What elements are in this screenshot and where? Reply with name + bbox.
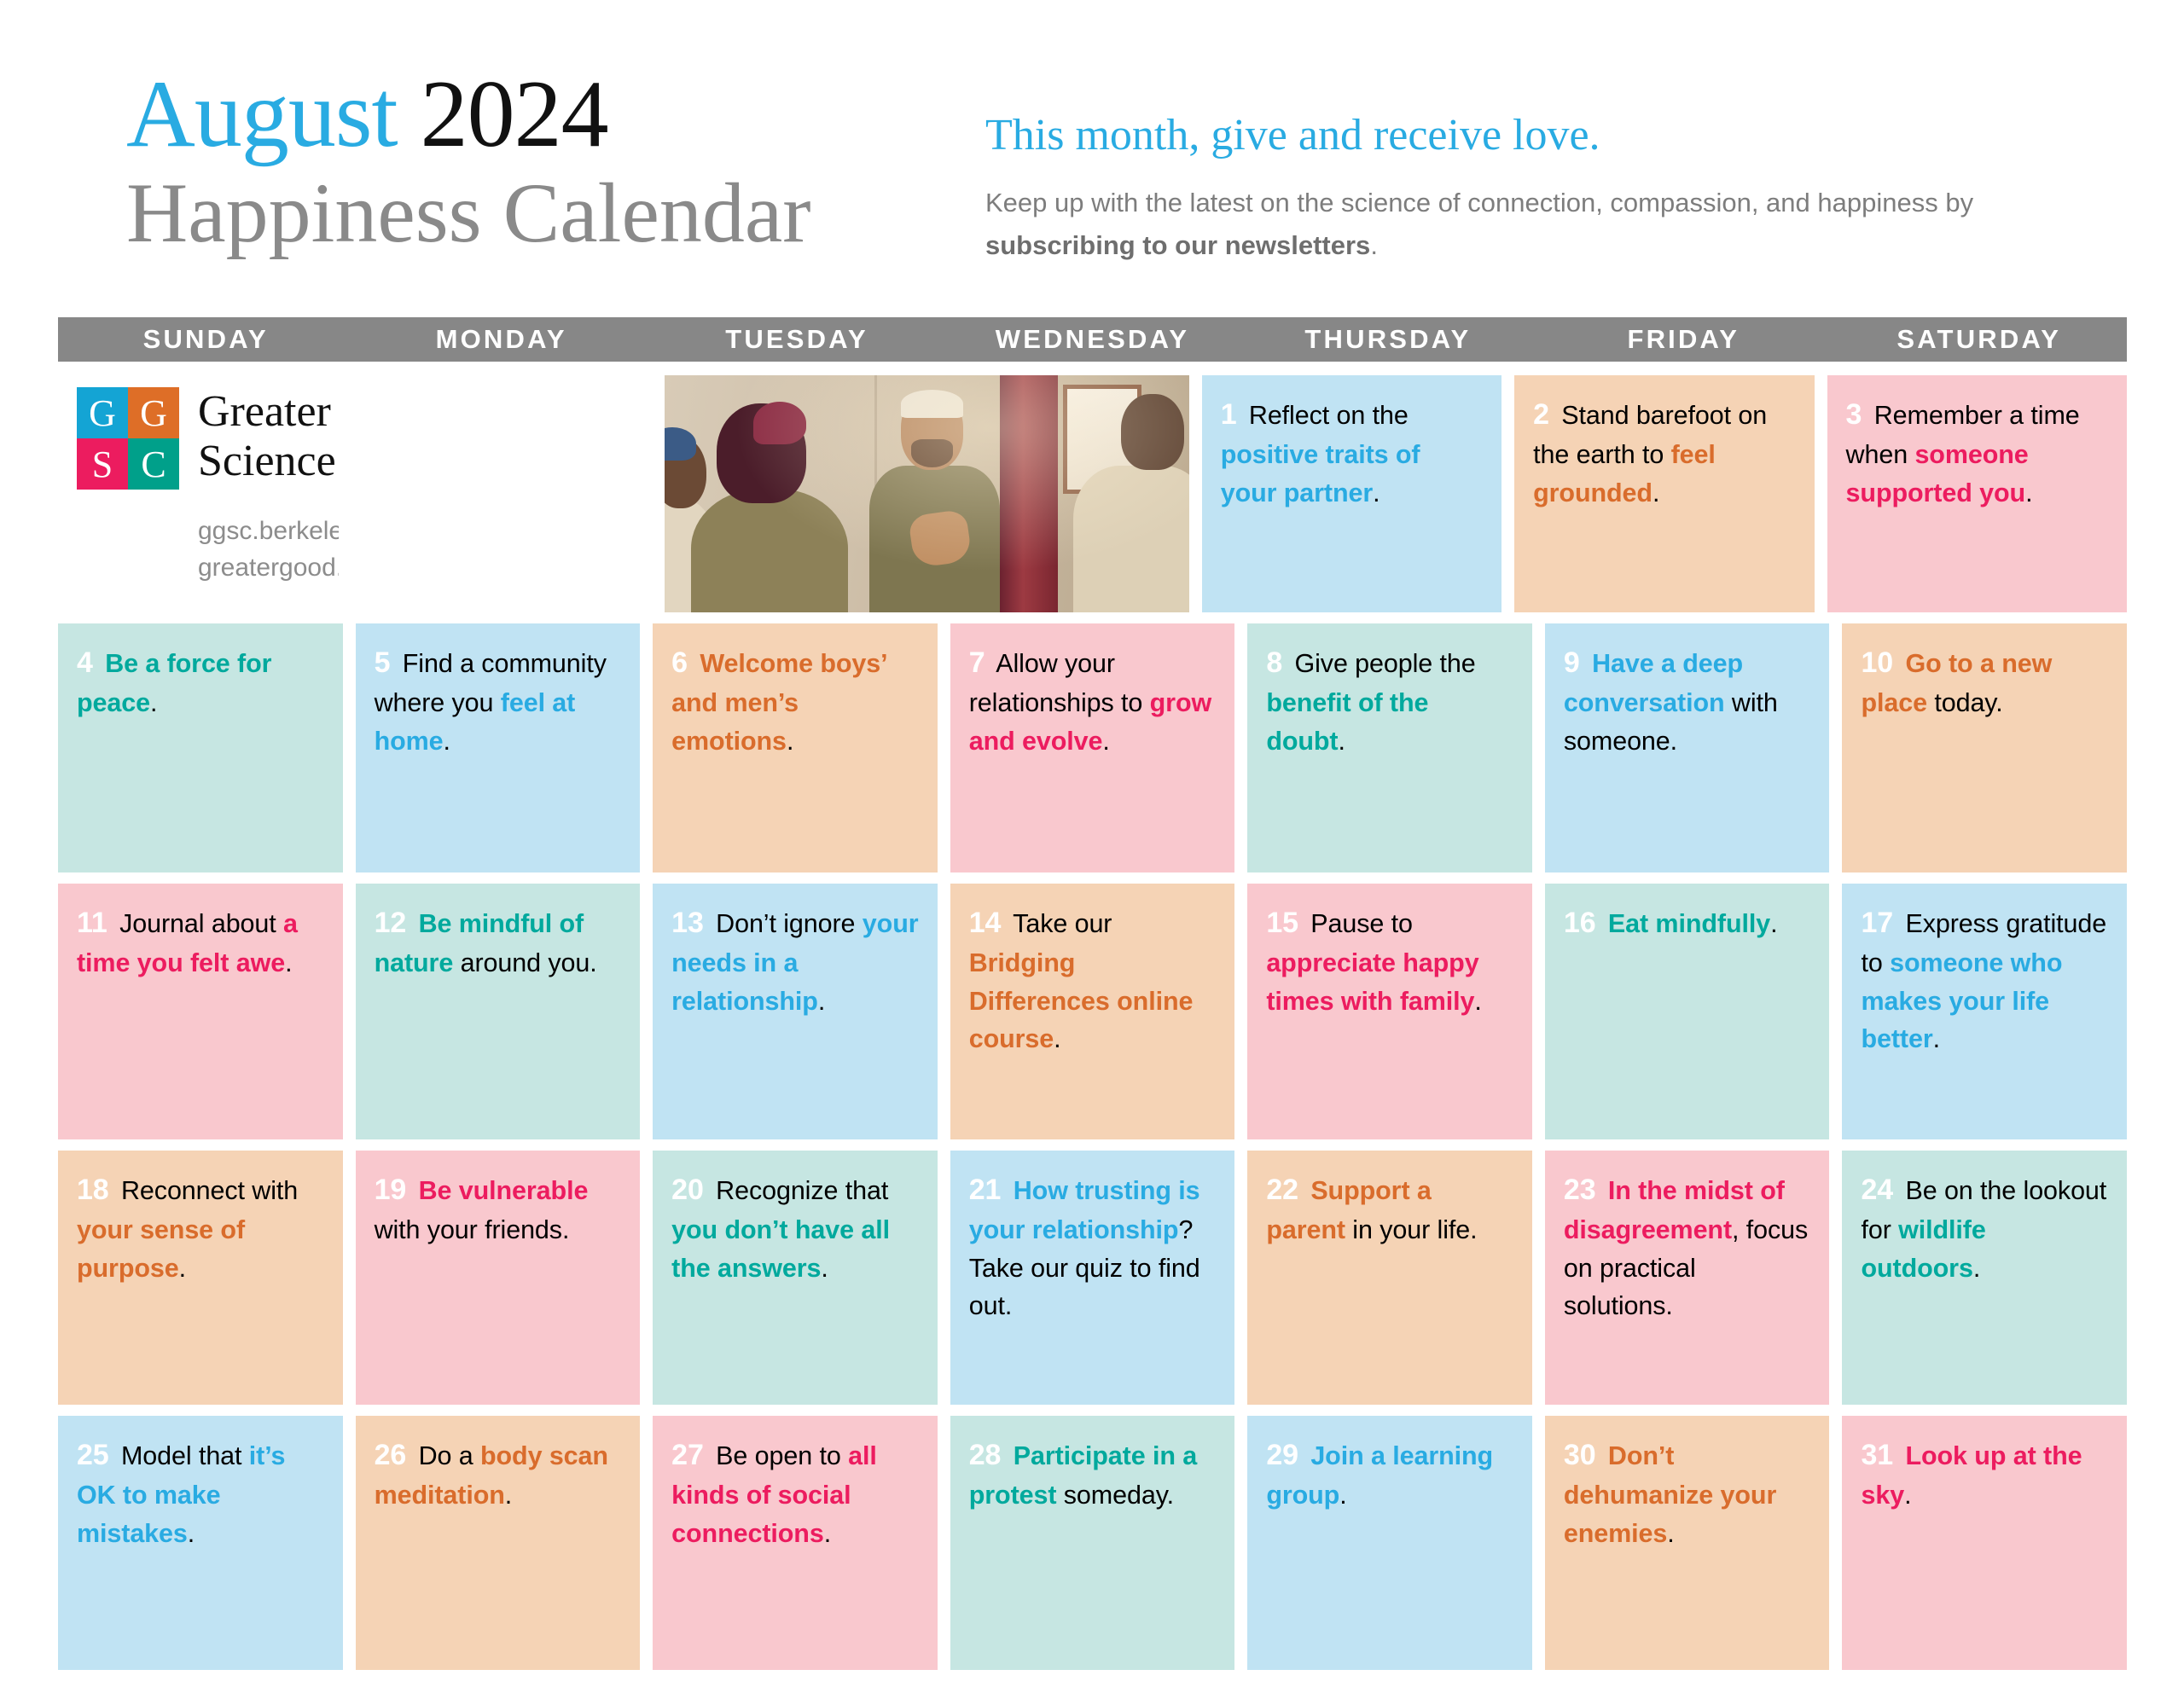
day-number: 16 [1564, 907, 1596, 939]
day-plain-text: Allow your relationships to [969, 649, 1150, 717]
day-number: 4 [77, 646, 93, 679]
day-11-text: 11 Journal about a time you felt awe. [77, 902, 324, 983]
day-cell-2[interactable]: 2 Stand barefoot on the earth to feel gr… [1514, 375, 1814, 612]
day-cell-7[interactable]: 7 Allow your relationships to grow and e… [950, 623, 1235, 872]
tagline-block: This month, give and receive love. Keep … [985, 111, 2094, 268]
day-cell-19[interactable]: 19 Be vulnerable with your friends. [356, 1151, 641, 1405]
day-plain-text: Don’t ignore [709, 909, 863, 938]
day-plain-text: . [505, 1481, 512, 1510]
day-13-text: 13 Don’t ignore your needs in a relation… [671, 902, 919, 1020]
day-plain-text: Take our [1006, 909, 1112, 938]
day-cell-25[interactable]: 25 Model that it’s OK to make mistakes. [58, 1416, 343, 1670]
day-highlight-text[interactable]: Be a force for peace [77, 649, 271, 717]
day-plain-text: in your life. [1345, 1215, 1478, 1244]
day-cell-11[interactable]: 11 Journal about a time you felt awe. [58, 884, 343, 1139]
calendar-page: August 2024 Happiness Calendar This mont… [0, 0, 2184, 1687]
day-number: 5 [375, 646, 391, 679]
day-2-text: 2 Stand barefoot on the earth to feel gr… [1533, 394, 1795, 512]
newsletter-link[interactable]: subscribing to our newsletters [985, 230, 1370, 260]
day-plain-text [1006, 1176, 1013, 1205]
day-number: 1 [1221, 398, 1237, 431]
calendar-week-row: G G S C Greater Good Science Center ggsc… [58, 375, 2127, 612]
day-plain-text: . [1373, 478, 1380, 507]
day-22-text: 22 Support a parent in your life. [1266, 1169, 1513, 1249]
ggsc-logo-squares-icon: G G S C [77, 387, 179, 490]
day-number: 28 [969, 1439, 1002, 1471]
day-highlight-text[interactable]: Bridging Differences online course [969, 948, 1194, 1052]
day-plain-text: . [1102, 727, 1109, 756]
day-cell-13[interactable]: 13 Don’t ignore your needs in a relation… [653, 884, 938, 1139]
day-cell-3[interactable]: 3 Remember a time when someone supported… [1827, 375, 2127, 612]
title-block: August 2024 Happiness Calendar [126, 67, 979, 261]
day-number: 14 [969, 907, 1002, 939]
day-highlight-text[interactable]: How trusting is your relationship [969, 1176, 1200, 1244]
day-plain-text [1601, 1176, 1608, 1205]
day-number: 20 [671, 1174, 704, 1206]
day-number: 31 [1861, 1439, 1893, 1471]
day-cell-6[interactable]: 6 Welcome boys’ and men’s emotions. [653, 623, 938, 872]
day-plain-text: . [179, 1254, 186, 1283]
calendar-grid: G G S C Greater Good Science Center ggsc… [58, 375, 2127, 1681]
day-plain-text [1585, 649, 1592, 678]
ggsc-logo-cell: G G S C Greater Good Science Center ggsc… [58, 375, 339, 612]
day-cell-23[interactable]: 23 In the midst of disagreement, focus o… [1545, 1151, 1830, 1405]
calendar-week-row: 4 Be a force for peace. 5 Find a communi… [58, 623, 2127, 872]
day-plain-text: . [150, 688, 157, 717]
logo-square-g2: G [128, 387, 179, 438]
day-number: 25 [77, 1439, 109, 1471]
day-10-text: 10 Go to a new place today. [1861, 642, 2108, 722]
day-number: 6 [671, 646, 688, 679]
day-31-text: 31 Look up at the sky. [1861, 1435, 2108, 1515]
day-cell-17[interactable]: 17 Express gratitude to someone who make… [1842, 884, 2127, 1139]
logo-square-s: S [77, 438, 128, 490]
day-plain-text: . [1054, 1024, 1060, 1053]
day-highlight-text[interactable]: Eat mindfully [1608, 909, 1770, 938]
day-number: 8 [1266, 646, 1282, 679]
day-highlight-text[interactable]: appreciate happy times with family [1266, 948, 1478, 1015]
day-19-text: 19 Be vulnerable with your friends. [375, 1169, 622, 1249]
calendar-week-row: 25 Model that it’s OK to make mistakes. … [58, 1416, 2127, 1670]
page-title: August 2024 [126, 67, 979, 162]
day-highlight-text[interactable]: you don’t have all the answers [671, 1215, 890, 1282]
title-month: August [126, 61, 398, 167]
day-6-text: 6 Welcome boys’ and men’s emotions. [671, 642, 919, 760]
day-plain-text: Reconnect with [114, 1176, 299, 1205]
day-4-text: 4 Be a force for peace. [77, 642, 324, 722]
day-highlight-text[interactable]: benefit of the doubt [1266, 688, 1428, 755]
day-plain-text: . [787, 727, 793, 756]
day-plain-text: . [285, 948, 292, 977]
day-cell-31[interactable]: 31 Look up at the sky. [1842, 1416, 2127, 1670]
day-plain-text: . [1339, 727, 1345, 756]
day-highlight-text[interactable]: Welcome boys’ and men’s emotions [671, 649, 886, 756]
day-plain-text [411, 909, 418, 938]
day-plain-text: Give people the [1287, 649, 1476, 678]
newsletter-blurb: Keep up with the latest on the science o… [985, 182, 2086, 267]
day-plain-text: Be open to [709, 1441, 848, 1470]
day-number: 10 [1861, 646, 1893, 679]
day-plain-text: Pause to [1304, 909, 1413, 938]
day-plain-text: . [1933, 1024, 1940, 1053]
day-cell-4[interactable]: 4 Be a force for peace. [58, 623, 343, 872]
day-12-text: 12 Be mindful of nature around you. [375, 902, 622, 983]
day-plain-text: . [1973, 1254, 1980, 1283]
group-conversation-photo [665, 375, 1189, 612]
day-cell-9[interactable]: 9 Have a deep conversation with someone. [1545, 623, 1830, 872]
day-cell-27[interactable]: 27 Be open to all kinds of social connec… [653, 1416, 938, 1670]
day-17-text: 17 Express gratitude to someone who make… [1861, 902, 2108, 1058]
header-photo-cell [665, 375, 1189, 612]
weekday-wednesday: WEDNESDAY [944, 317, 1240, 362]
day-highlight-text[interactable]: your sense of purpose [77, 1215, 245, 1282]
month-tagline: This month, give and receive love. [985, 111, 2094, 159]
day-highlight-text[interactable]: body scan meditation [375, 1441, 608, 1510]
day-cell-24[interactable]: 24 Be on the lookout for wildlife outdoo… [1842, 1151, 2127, 1405]
day-24-text: 24 Be on the lookout for wildlife outdoo… [1861, 1169, 2108, 1287]
day-21-text: 21 How trusting is your relationship? Ta… [969, 1169, 1217, 1325]
day-27-text: 27 Be open to all kinds of social connec… [671, 1435, 919, 1552]
calendar-week-row: 18 Reconnect with your sense of purpose.… [58, 1151, 2127, 1405]
day-cell-16[interactable]: 16 Eat mindfully. [1545, 884, 1830, 1139]
page-subtitle: Happiness Calendar [126, 165, 979, 261]
day-number: 24 [1861, 1174, 1893, 1206]
day-cell-14[interactable]: 14 Take our Bridging Differences online … [950, 884, 1235, 1139]
weekday-header-bar: SUNDAY MONDAY TUESDAY WEDNESDAY THURSDAY… [58, 317, 2127, 362]
ggsc-logo-wordmark: Greater Good Science Center [198, 387, 339, 486]
day-plain-text: with your friends. [375, 1215, 570, 1244]
day-plain-text: Stand barefoot on the earth to [1533, 401, 1767, 469]
day-cell-12[interactable]: 12 Be mindful of nature around you. [356, 884, 641, 1139]
day-number: 18 [77, 1174, 109, 1206]
day-plain-text: Model that [114, 1441, 249, 1470]
day-number: 9 [1564, 646, 1580, 679]
day-number: 15 [1266, 907, 1298, 939]
day-highlight-text[interactable]: positive traits of your partner [1221, 440, 1420, 507]
day-plain-text: . [2025, 478, 2032, 507]
day-number: 29 [1266, 1439, 1298, 1471]
weekday-saturday: SATURDAY [1832, 317, 2127, 362]
logo-square-c: C [128, 438, 179, 490]
day-16-text: 16 Eat mindfully. [1564, 902, 1811, 944]
day-plain-text [1601, 1441, 1608, 1470]
day-cell-5[interactable]: 5 Find a community where you feel at hom… [356, 623, 641, 872]
day-number: 17 [1861, 907, 1893, 939]
day-8-text: 8 Give people the benefit of the doubt. [1266, 642, 1513, 760]
day-highlight-text[interactable]: Be vulnerable [419, 1176, 589, 1205]
weekday-thursday: THURSDAY [1240, 317, 1536, 362]
day-number: 11 [77, 907, 107, 939]
day-plain-text: . [824, 1519, 831, 1548]
title-year: 2024 [421, 61, 608, 167]
day-28-text: 28 Participate in a protest someday. [969, 1435, 1217, 1515]
day-highlight-text[interactable]: Look up at the sky [1861, 1441, 2082, 1510]
day-23-text: 23 In the midst of disagreement, focus o… [1564, 1169, 1811, 1325]
day-number: 21 [969, 1174, 1002, 1206]
calendar-header: August 2024 Happiness Calendar This mont… [0, 0, 2184, 314]
day-number: 23 [1564, 1174, 1596, 1206]
day-18-text: 18 Reconnect with your sense of purpose. [77, 1169, 324, 1287]
day-plain-text: . [1339, 1481, 1346, 1510]
day-highlight-text[interactable]: Join a learning group [1266, 1441, 1493, 1510]
day-cell-28[interactable]: 28 Participate in a protest someday. [950, 1416, 1235, 1670]
day-30-text: 30 Don’t dehumanize your enemies. [1564, 1435, 1811, 1552]
day-5-text: 5 Find a community where you feel at hom… [375, 642, 622, 760]
day-plain-text: . [1474, 987, 1481, 1016]
day-9-text: 9 Have a deep conversation with someone. [1564, 642, 1811, 760]
day-highlight-text[interactable]: someone who makes your life better [1861, 948, 2062, 1052]
newsletter-blurb-lead: Keep up with the latest on the science o… [985, 188, 1973, 217]
newsletter-blurb-tail: . [1370, 230, 1378, 260]
day-14-text: 14 Take our Bridging Differences online … [969, 902, 1217, 1058]
day-3-text: 3 Remember a time when someone supported… [1846, 394, 2108, 512]
day-cell-20[interactable]: 20 Recognize that you don’t have all the… [653, 1151, 938, 1405]
day-plain-text: . [444, 727, 450, 756]
day-15-text: 15 Pause to appreciate happy times with … [1266, 902, 1513, 1020]
day-plain-text [411, 1176, 418, 1205]
day-7-text: 7 Allow your relationships to grow and e… [969, 642, 1217, 760]
ggsc-url-secondary[interactable]: greatergood.berkeley.edu [198, 550, 339, 587]
day-plain-text [1006, 1441, 1013, 1470]
day-cell-30[interactable]: 30 Don’t dehumanize your enemies. [1545, 1416, 1830, 1670]
logo-square-g1: G [77, 387, 128, 438]
logo-name-line2: Science Center [198, 437, 339, 486]
day-plain-text: . [818, 987, 825, 1016]
day-plain-text: . [188, 1519, 195, 1548]
ggsc-urls: ggsc.berkeley.edu greatergood.berkeley.e… [77, 513, 339, 586]
day-cell-1[interactable]: 1 Reflect on the positive traits of your… [1202, 375, 1501, 612]
empty-cell-monday [351, 375, 651, 612]
day-plain-text: . [1904, 1481, 1911, 1510]
day-plain-text: Journal about [113, 909, 283, 938]
weekday-friday: FRIDAY [1536, 317, 1831, 362]
day-20-text: 20 Recognize that you don’t have all the… [671, 1169, 919, 1287]
day-plain-text: Recognize that [709, 1176, 888, 1205]
day-number: 3 [1846, 398, 1862, 431]
day-plain-text: around you. [453, 948, 596, 977]
day-plain-text [98, 649, 105, 678]
weekday-monday: MONDAY [353, 317, 648, 362]
day-number: 13 [671, 907, 704, 939]
day-cell-21[interactable]: 21 How trusting is your relationship? Ta… [950, 1151, 1235, 1405]
day-number: 2 [1533, 398, 1549, 431]
ggsc-url-primary[interactable]: ggsc.berkeley.edu [198, 513, 339, 550]
day-number: 7 [969, 646, 985, 679]
day-number: 26 [375, 1439, 407, 1471]
logo-name-line1: Greater Good [198, 387, 339, 437]
day-plain-text: . [1653, 478, 1659, 507]
day-number: 12 [375, 907, 407, 939]
day-plain-text: today. [1927, 688, 2003, 717]
day-1-text: 1 Reflect on the positive traits of your… [1221, 394, 1483, 512]
day-number: 30 [1564, 1439, 1596, 1471]
day-plain-text: . [1770, 909, 1777, 938]
day-cell-22[interactable]: 22 Support a parent in your life. [1247, 1151, 1532, 1405]
day-cell-10[interactable]: 10 Go to a new place today. [1842, 623, 2127, 872]
day-number: 19 [375, 1174, 407, 1206]
day-25-text: 25 Model that it’s OK to make mistakes. [77, 1435, 324, 1552]
day-plain-text: someday. [1056, 1481, 1174, 1510]
weekday-sunday: SUNDAY [58, 317, 353, 362]
day-plain-text: . [1667, 1519, 1674, 1548]
day-cell-26[interactable]: 26 Do a body scan meditation. [356, 1416, 641, 1670]
day-29-text: 29 Join a learning group. [1266, 1435, 1513, 1515]
day-number: 22 [1266, 1174, 1298, 1206]
day-plain-text: . [821, 1254, 828, 1283]
weekday-tuesday: TUESDAY [649, 317, 944, 362]
ggsc-logo[interactable]: G G S C Greater Good Science Center [77, 387, 339, 490]
day-plain-text [1601, 909, 1608, 938]
calendar-week-row: 11 Journal about a time you felt awe. 12… [58, 884, 2127, 1139]
day-cell-29[interactable]: 29 Join a learning group. [1247, 1416, 1532, 1670]
day-number: 27 [671, 1439, 704, 1471]
day-plain-text: Reflect on the [1242, 401, 1409, 430]
day-cell-8[interactable]: 8 Give people the benefit of the doubt. [1247, 623, 1532, 872]
day-cell-15[interactable]: 15 Pause to appreciate happy times with … [1247, 884, 1532, 1139]
day-26-text: 26 Do a body scan meditation. [375, 1435, 622, 1515]
day-plain-text: Do a [411, 1441, 480, 1470]
day-cell-18[interactable]: 18 Reconnect with your sense of purpose. [58, 1151, 343, 1405]
